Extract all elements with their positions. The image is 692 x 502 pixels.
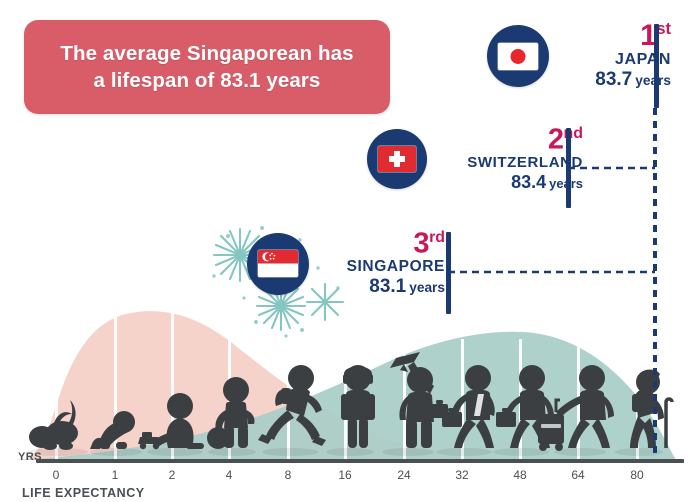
singapore-value: 83.1	[369, 276, 406, 297]
axis-tick-24: 24	[397, 468, 410, 482]
axis-tick-16: 16	[338, 468, 351, 482]
headline-text: The average Singaporean has a lifespan o…	[42, 40, 371, 94]
singapore-unit: years	[409, 280, 445, 295]
axis-tick-2: 2	[169, 468, 176, 482]
singapore-place-suffix: rd	[429, 229, 445, 246]
switzerland-flag-icon	[378, 146, 416, 172]
rank-block-japan[interactable]: 1st JAPAN 83.7years	[487, 22, 671, 90]
switzerland-value-label: 83.4years	[433, 173, 583, 192]
axis-tick-48: 48	[513, 468, 526, 482]
axis-tick-1: 1	[112, 468, 119, 482]
japan-badge	[487, 25, 549, 87]
switzerland-rank-bar	[566, 128, 571, 208]
switzerland-country-label: SWITZERLAND	[433, 155, 583, 171]
rank-block-switzerland[interactable]: 2nd SWITZERLAND 83.4years	[367, 126, 583, 192]
switzerland-value: 83.4	[511, 172, 546, 192]
headline-callout: The average Singaporean has a lifespan o…	[24, 20, 390, 114]
singapore-ordinal: 3rd	[317, 230, 445, 258]
singapore-rank-text: 3rd SINGAPORE 83.1years	[317, 230, 445, 297]
rank-block-singapore[interactable]: 3rd SINGAPORE 83.1years	[247, 230, 445, 297]
singapore-badge	[247, 233, 309, 295]
axis-tick-32: 32	[455, 468, 468, 482]
axis-tick-64: 64	[571, 468, 584, 482]
singapore-rank-bar	[446, 232, 451, 314]
singapore-place-number: 3	[413, 228, 429, 260]
axis-tick-80: 80	[630, 468, 643, 482]
singapore-flag-icon	[258, 250, 298, 277]
headline-line-2: a lifespan of 83.1 years	[94, 69, 321, 92]
axis-line	[36, 459, 684, 463]
axis-tick-8: 8	[285, 468, 292, 482]
switzerland-badge	[367, 129, 427, 189]
singapore-value-label: 83.1years	[317, 277, 445, 297]
infographic-canvas: The average Singaporean has a lifespan o…	[0, 0, 692, 502]
japan-flag-icon	[498, 43, 538, 70]
switzerland-ordinal: 2nd	[433, 126, 583, 154]
switzerland-place-number: 2	[548, 124, 564, 156]
japan-value: 83.7	[595, 69, 632, 90]
japan-rank-bar	[654, 24, 659, 108]
axis-caption: LIFE EXPECTANCY	[22, 486, 145, 500]
singapore-country-label: SINGAPORE	[317, 259, 445, 275]
axis-tick-0: 0	[53, 468, 60, 482]
switzerland-rank-text: 2nd SWITZERLAND 83.4years	[433, 126, 583, 192]
headline-line-1: The average Singaporean has	[60, 42, 353, 65]
axis-tick-4: 4	[226, 468, 233, 482]
